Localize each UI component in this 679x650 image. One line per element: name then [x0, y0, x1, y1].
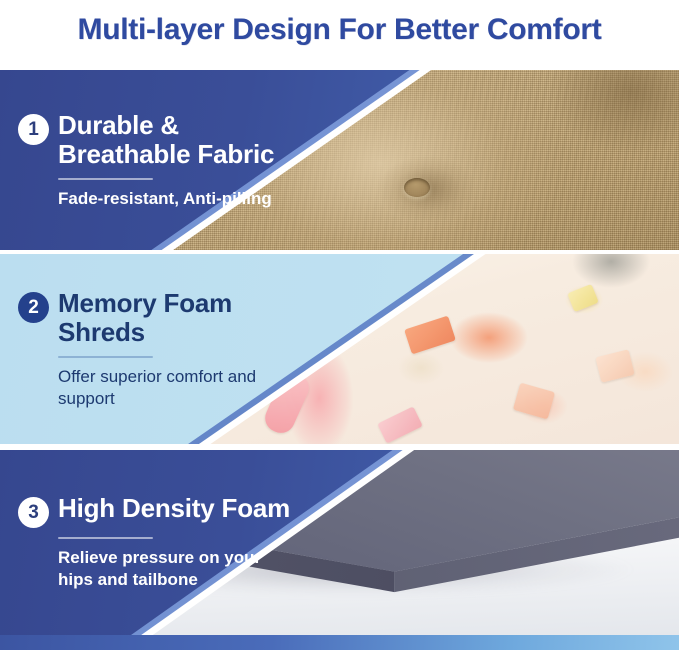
panel-1-heading-row: 1 Durable & Breathable Fabric: [18, 111, 318, 169]
feature-panel-2: 2 Memory Foam Shreds Offer superior comf…: [0, 254, 679, 444]
feature-panel-3: 3 High Density Foam Relieve pressure on …: [0, 450, 679, 635]
panel-2-heading-row: 2 Memory Foam Shreds: [18, 289, 318, 347]
panel-1-heading: Durable & Breathable Fabric: [58, 111, 318, 169]
step-number-badge-1: 1: [18, 114, 49, 145]
panel-2-content: 2 Memory Foam Shreds Offer superior comf…: [18, 254, 318, 444]
panel-2-divider: [58, 356, 153, 358]
panel-3-content: 3 High Density Foam Relieve pressure on …: [18, 450, 318, 635]
panel-1-divider: [58, 178, 153, 180]
panel-1-content: 1 Durable & Breathable Fabric Fade-resis…: [18, 70, 318, 250]
panel-3-divider: [58, 537, 153, 539]
page-title: Multi-layer Design For Better Comfort: [78, 13, 602, 47]
step-number-badge-2: 2: [18, 292, 49, 323]
step-number-badge-3: 3: [18, 497, 49, 528]
panel-3-subtext: Relieve pressure on your hips and tailbo…: [58, 547, 293, 591]
page-title-bar: Multi-layer Design For Better Comfort: [0, 0, 679, 60]
feature-panel-1: 1 Durable & Breathable Fabric Fade-resis…: [0, 70, 679, 250]
panel-1-subtext: Fade-resistant, Anti-pilling: [58, 188, 293, 210]
panel-3-heading: High Density Foam: [58, 494, 290, 523]
panel-3-heading-row: 3 High Density Foam: [18, 494, 318, 528]
panel-2-subtext: Offer superior comfort and support: [58, 366, 293, 410]
bottom-accent-strip: [0, 635, 679, 650]
panel-2-heading: Memory Foam Shreds: [58, 289, 318, 347]
